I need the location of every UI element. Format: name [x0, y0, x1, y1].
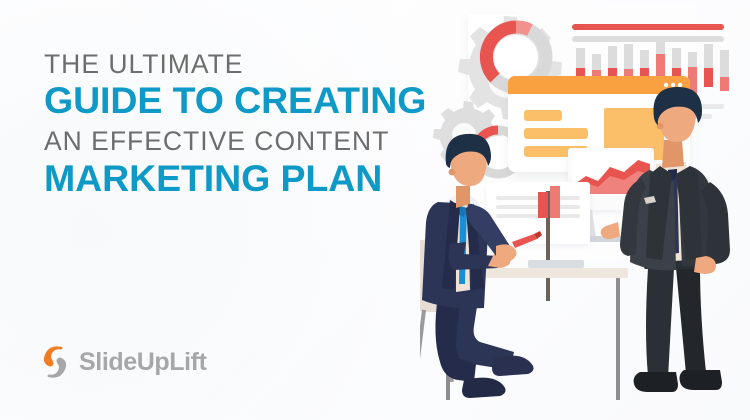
slideuplift-logo-text: SlideUpLift: [79, 350, 207, 375]
slideuplift-logo[interactable]: SlideUpLift: [40, 345, 207, 379]
headline-line-4: MARKETING PLAN: [44, 159, 464, 199]
slide-canvas: THE ULTIMATE GUIDE TO CREATING AN EFFECT…: [0, 0, 750, 420]
slideuplift-logo-mark: [40, 345, 70, 379]
headline-block: THE ULTIMATE GUIDE TO CREATING AN EFFECT…: [44, 50, 464, 205]
business-analytics-illustration: [420, 0, 750, 420]
headline-line-2: GUIDE TO CREATING: [44, 81, 464, 121]
headline-line-1: THE ULTIMATE: [44, 50, 464, 78]
headline-line-3: AN EFFECTIVE CONTENT: [44, 127, 464, 155]
